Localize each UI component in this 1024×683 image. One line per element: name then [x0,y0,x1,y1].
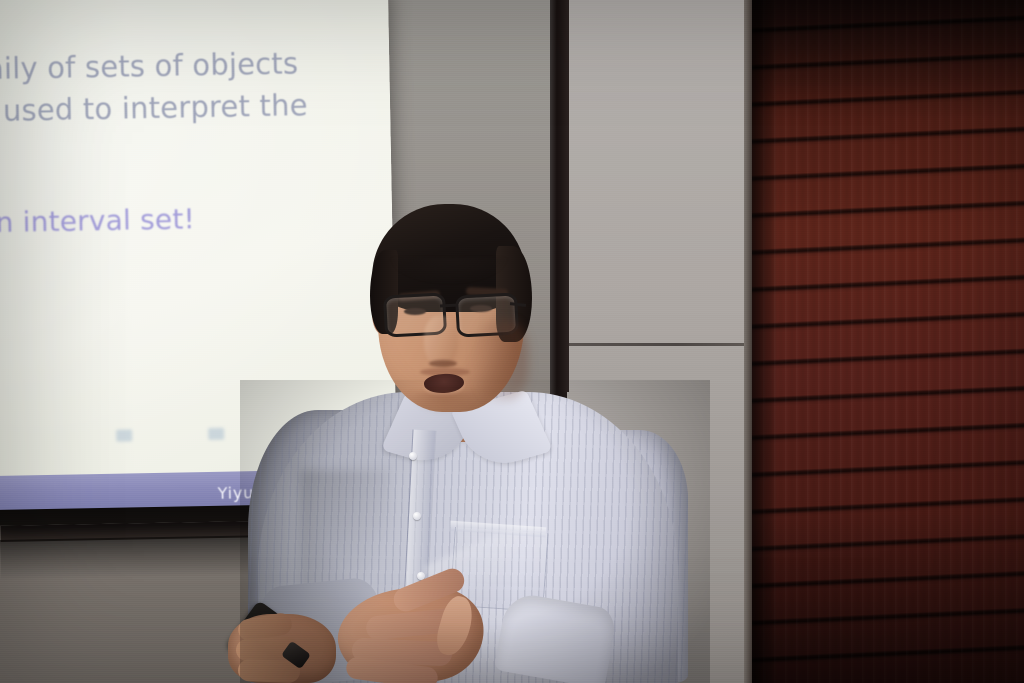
chin-shadow [408,392,478,414]
hairline [384,258,514,292]
nostrils [429,360,457,367]
shirt-button [413,512,421,520]
presentation-photo-scene: mily of sets of objects s used to interp… [0,0,1024,683]
presenter [0,0,1024,683]
shirt-button [409,452,417,460]
cheek-shadow [474,320,528,400]
